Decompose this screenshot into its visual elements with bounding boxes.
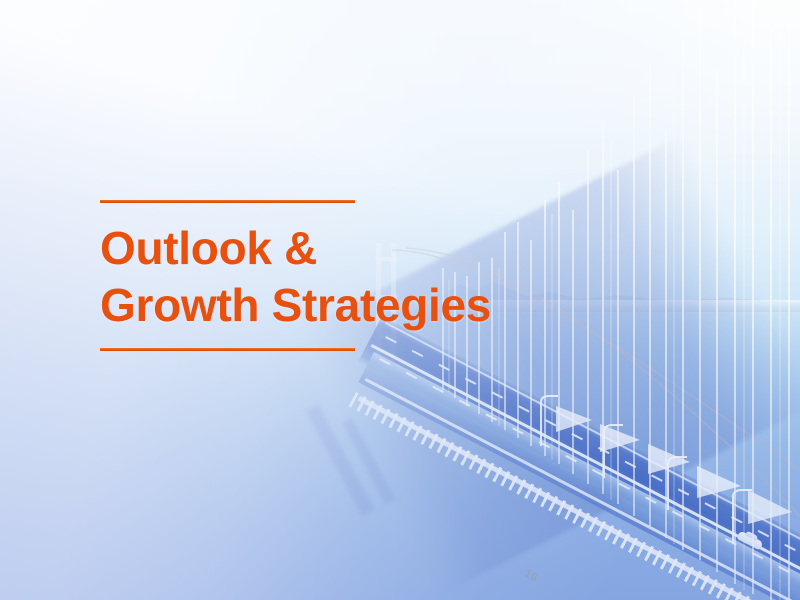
presentation-slide: 16 — [0, 0, 800, 600]
title-rule-top — [100, 200, 355, 203]
title-rule-bottom — [100, 348, 355, 351]
slide-title-line-2: Growth Strategies — [100, 277, 570, 334]
title-block: Outlook & Growth Strategies — [100, 200, 570, 351]
slide-title-line-1: Outlook & — [100, 220, 570, 277]
